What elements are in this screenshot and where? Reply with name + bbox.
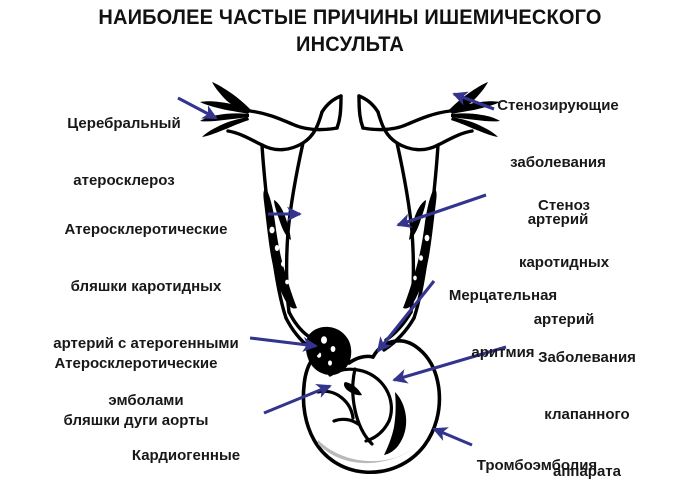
midline-vessel-left-outer <box>337 96 341 128</box>
midline-vessel-left-tip <box>322 96 341 112</box>
label-cardiogenic-emboli: Кардиогенные эмболы <box>110 408 262 485</box>
label-line: Атеросклеротические <box>30 354 242 373</box>
aortic-arch-with-plaque <box>306 327 351 375</box>
label-line: бляшки каротидных <box>30 277 262 296</box>
upper-arch-right <box>363 111 450 130</box>
label-line: Церебральный <box>36 114 212 133</box>
label-line: Атеросклеротические <box>30 220 262 239</box>
label-line: Кардиогенные <box>110 446 262 465</box>
label-line: Стеноз <box>492 196 636 215</box>
label-left-ventricle-thromboembolism: Тромбоэмболия из левого желудочка <box>456 418 618 485</box>
upper-arch-left <box>250 111 337 130</box>
label-line: Стенозирующие <box>478 96 638 115</box>
aortic-arch-plaque <box>306 327 351 375</box>
midline-vessel-right-tip <box>359 96 378 112</box>
heart-inner-structures <box>318 369 391 444</box>
vessel-to-arch-right-outer <box>384 318 414 350</box>
vessel-to-arch-left <box>289 312 308 336</box>
label-line: Тромбоэмболия <box>456 456 618 475</box>
diagram-canvas: НАИБОЛЕЕ ЧАСТЫЕ ПРИЧИНЫ ИШЕМИЧЕСКОГО ИНС… <box>0 0 700 485</box>
midline-vessel-right-outer <box>359 96 363 128</box>
label-line: Заболевания <box>512 348 662 367</box>
label-line: Мерцательная <box>424 286 582 305</box>
